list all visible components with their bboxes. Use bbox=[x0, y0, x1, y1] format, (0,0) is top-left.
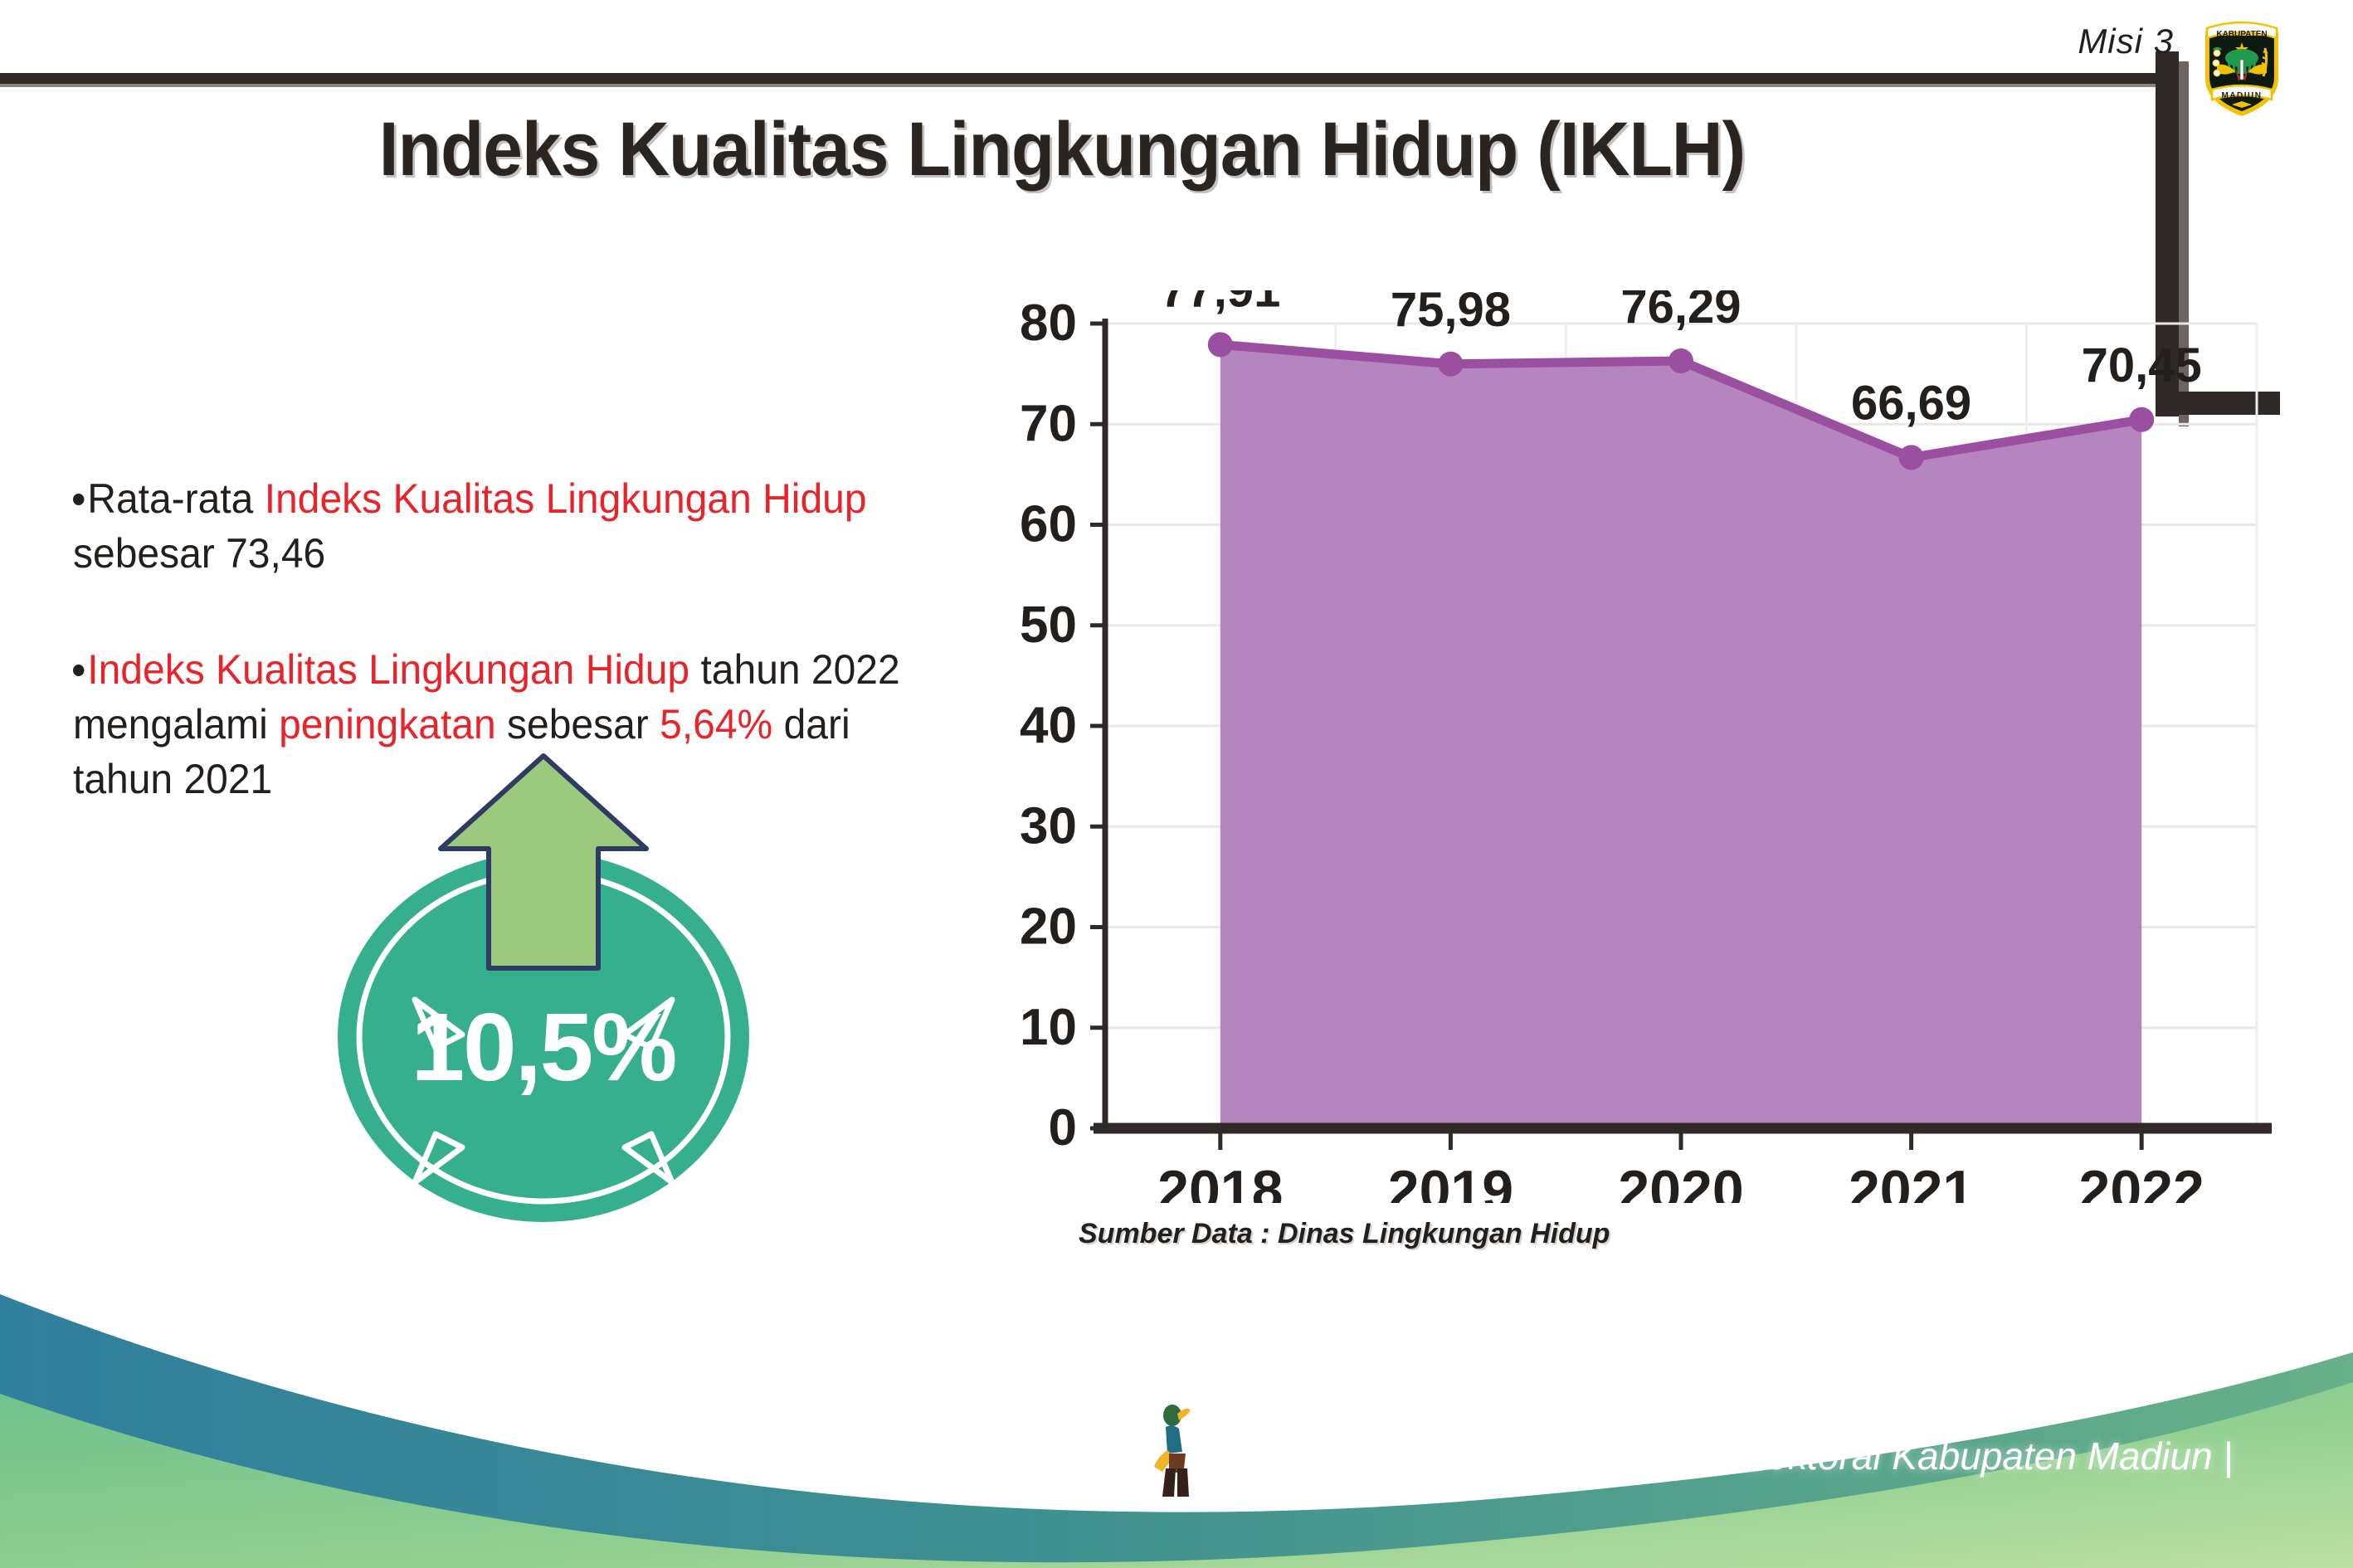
bullet-0-part-0: Rata-rata bbox=[87, 475, 264, 522]
arrow-up-icon bbox=[436, 751, 651, 979]
bullet-1-part-3: sebesar bbox=[496, 701, 660, 747]
header-rule bbox=[0, 73, 2157, 84]
misi-label: Misi 3 bbox=[2078, 22, 2174, 61]
svg-text:50: 50 bbox=[1020, 597, 1077, 654]
footer-caption: Media Infografis Data Statistik Sektoral… bbox=[1224, 1434, 2233, 1478]
chart-source-note: Sumber Data : Dinas Lingkungan Hidup bbox=[1079, 1218, 1610, 1250]
svg-text:30: 30 bbox=[1020, 797, 1077, 855]
svg-text:66,69: 66,69 bbox=[1851, 376, 1971, 430]
svg-text:80: 80 bbox=[1020, 295, 1077, 352]
svg-text:70,45: 70,45 bbox=[2082, 338, 2202, 392]
bullet-dot-icon bbox=[73, 665, 84, 676]
svg-text:70: 70 bbox=[1020, 395, 1077, 452]
svg-text:KABUPATEN: KABUPATEN bbox=[2216, 30, 2267, 39]
bullet-0-part-1: Indeks Kualitas Lingkungan Hidup bbox=[265, 475, 867, 522]
svg-text:75,98: 75,98 bbox=[1391, 290, 1511, 337]
svg-text:MADIUN: MADIUN bbox=[2222, 91, 2263, 100]
page-title: Indeks Kualitas Lingkungan Hidup (IKLH) bbox=[75, 106, 2050, 193]
svg-text:2022: 2022 bbox=[2079, 1159, 2204, 1203]
svg-text:2018: 2018 bbox=[1157, 1159, 1283, 1203]
svg-text:20: 20 bbox=[1020, 898, 1077, 956]
bullet-0-part-2: sebesar 73,46 bbox=[73, 530, 325, 577]
svg-text:40: 40 bbox=[1020, 697, 1077, 754]
footer: Media Infografis Data Statistik Sektoral… bbox=[0, 1294, 2353, 1568]
iklh-area-chart: 77,9175,9876,2966,6970,45010203040506070… bbox=[979, 290, 2273, 1203]
list-item: Rata-rata Indeks Kualitas Lingkungan Hid… bbox=[73, 471, 933, 581]
bullet-1-part-4: 5,64% bbox=[660, 701, 772, 747]
bullet-1-part-0: Indeks Kualitas Lingkungan Hidup bbox=[87, 646, 689, 693]
svg-text:76,29: 76,29 bbox=[1620, 290, 1741, 334]
svg-text:77,91: 77,91 bbox=[1160, 290, 1280, 317]
increase-badge: 10,5% bbox=[328, 751, 759, 1224]
svg-text:0: 0 bbox=[1049, 1099, 1077, 1157]
chart-canvas: 77,9175,9876,2966,6970,45010203040506070… bbox=[979, 290, 2273, 1203]
svg-text:10: 10 bbox=[1020, 999, 1077, 1056]
svg-text:2019: 2019 bbox=[1388, 1159, 1513, 1203]
infographic-page: Misi 3 KABUPATEN MADIUN Indeks Kualitas … bbox=[0, 0, 2353, 1568]
badge-value: 10,5% bbox=[328, 991, 759, 1103]
statistik-figure-logo-icon bbox=[1149, 1402, 1209, 1502]
svg-text:2020: 2020 bbox=[1618, 1159, 1743, 1203]
kabupaten-madiun-emblem-icon: KABUPATEN MADIUN bbox=[2199, 13, 2285, 119]
svg-text:2021: 2021 bbox=[1849, 1159, 1974, 1203]
bullet-1-part-2: peningkatan bbox=[279, 701, 496, 747]
svg-text:60: 60 bbox=[1020, 496, 1077, 553]
bullet-dot-icon bbox=[73, 494, 84, 505]
